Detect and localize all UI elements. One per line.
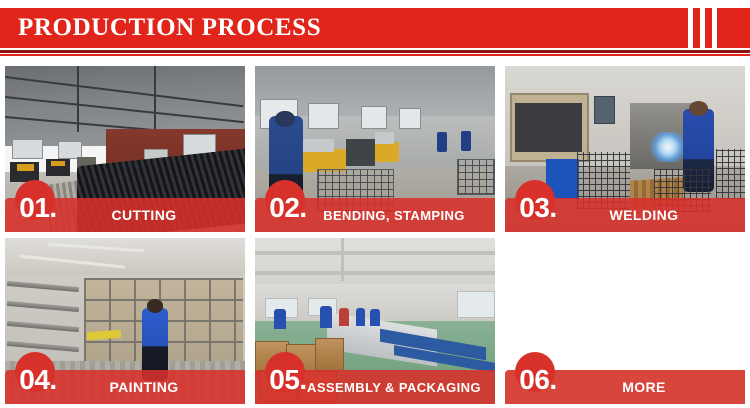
header-notch-3 (712, 8, 717, 48)
process-panel-bending-stamping[interactable]: BENDING, STAMPING 02. (255, 66, 495, 232)
process-panel-more[interactable]: MORE 06. (505, 238, 745, 404)
process-panel-painting[interactable]: PAINTING 04. (5, 238, 245, 404)
panel-number-badge-05: 05. (259, 360, 317, 400)
panel-number-badge-06: 06. (509, 360, 567, 400)
panel-number-badge-01: 01. (9, 188, 67, 228)
header-notch-1 (688, 8, 693, 48)
page-header: PRODUCTION PROCESS (0, 0, 750, 60)
process-panel-cutting[interactable]: CUTTING 01. (5, 66, 245, 232)
header-stripe-red (0, 54, 750, 56)
header-stripe-dark (0, 50, 750, 53)
process-panel-assembly-packaging[interactable]: ASSEMBLY & PACKAGING 05. (255, 238, 495, 404)
panel-number-badge-04: 04. (9, 360, 67, 400)
process-panel-welding[interactable]: WELDING 03. (505, 66, 745, 232)
panel-number-badge-03: 03. (509, 188, 567, 228)
header-notch-2 (700, 8, 705, 48)
panel-number-badge-02: 02. (259, 188, 317, 228)
page-title: PRODUCTION PROCESS (18, 11, 321, 45)
process-grid: CUTTING 01. BENDING, STAMPI (5, 66, 745, 404)
